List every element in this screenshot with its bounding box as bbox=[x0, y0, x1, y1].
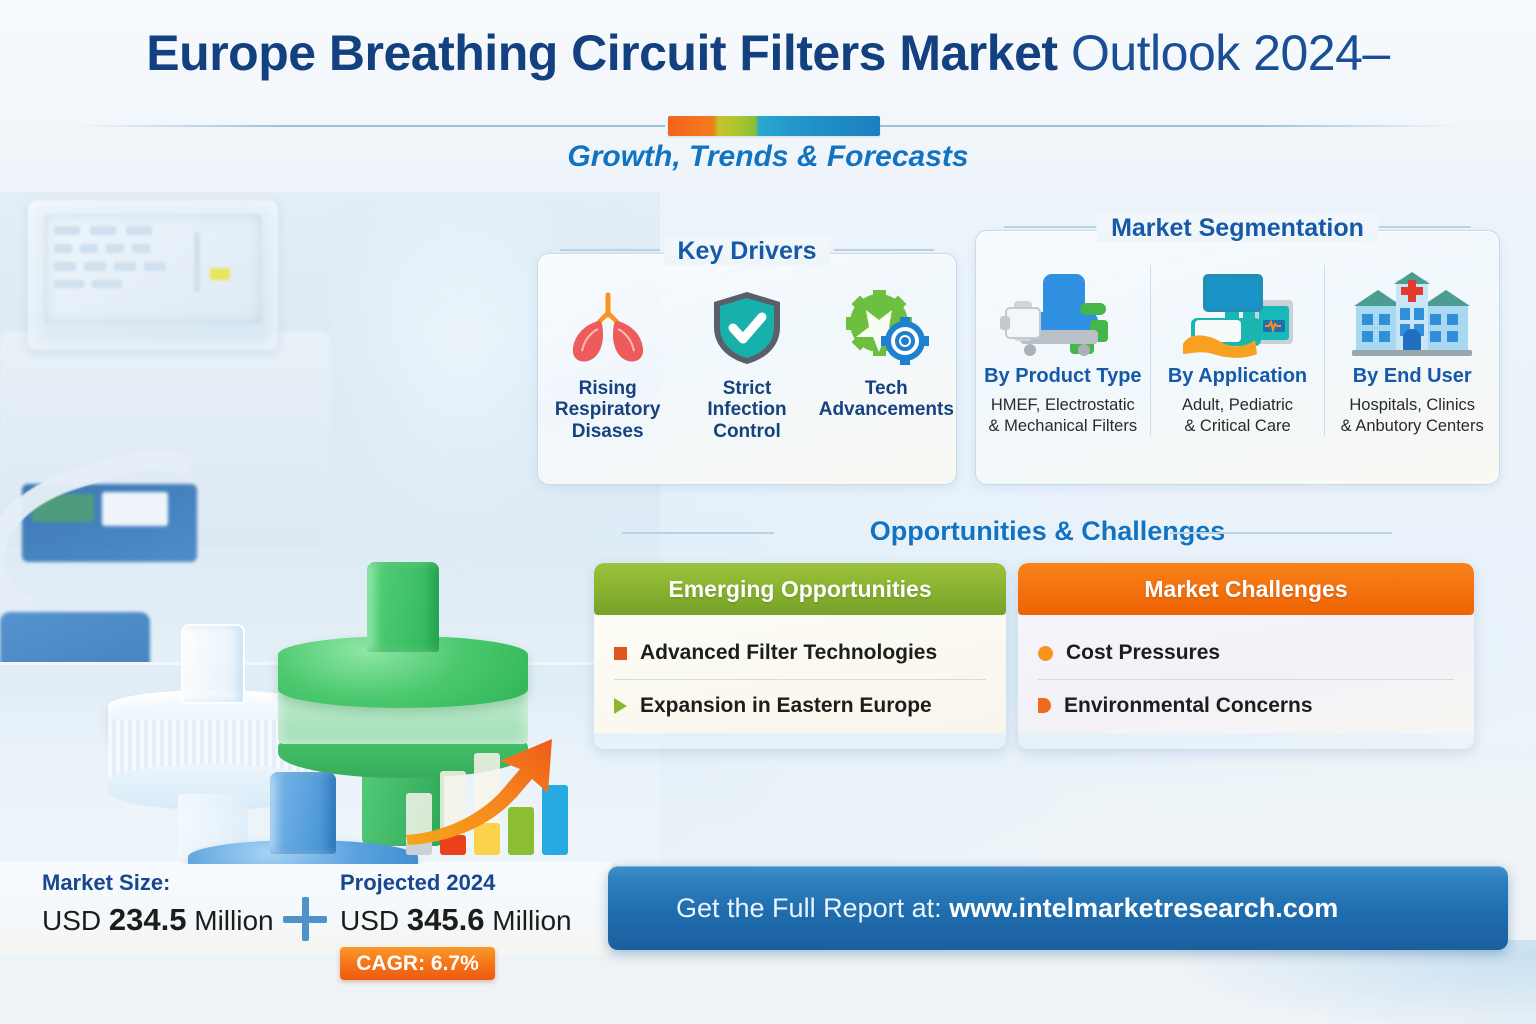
cta-text: Get the Full Report at: www.intelmarketr… bbox=[608, 893, 1338, 924]
projected-value: USD 345.6 Million bbox=[340, 902, 572, 938]
header: Europe Breathing Circuit Filters Market … bbox=[0, 0, 1536, 192]
market-segmentation-panel: Market Segmentation bbox=[975, 230, 1500, 485]
segment-desc-product-type: HMEF, Electrostatic & Mechanical Filters bbox=[980, 395, 1146, 436]
list-item[interactable]: Environmental Concerns bbox=[1038, 679, 1454, 731]
key-drivers-panel: Key Drivers Rising Respiratory bbox=[537, 253, 957, 485]
key-drivers-columns: Rising Respiratory Disases Strict Infect… bbox=[538, 284, 956, 442]
patient-monitor-icon bbox=[1155, 265, 1321, 363]
blue-filter-port bbox=[270, 772, 336, 854]
list-item-label: Cost Pressures bbox=[1066, 641, 1220, 665]
segment-heading-end-user: By End User bbox=[1329, 365, 1495, 388]
square-bullet-icon bbox=[614, 647, 627, 660]
driver-item-tech[interactable]: Tech Advancements bbox=[817, 284, 956, 442]
infographic-canvas: Europe Breathing Circuit Filters Market … bbox=[0, 0, 1536, 1024]
monitor-screen bbox=[44, 214, 262, 324]
growth-chart bbox=[400, 735, 570, 855]
segment-desc-application: Adult, Pediatric & Critical Care bbox=[1155, 395, 1321, 436]
cta-url: www.intelmarketresearch.com bbox=[949, 893, 1338, 923]
emerging-opportunities-card: Emerging Opportunities Advanced Filter T… bbox=[594, 563, 1006, 749]
emerging-opportunities-body: Advanced Filter Technologies Expansion i… bbox=[594, 615, 1006, 733]
divider-accent-bar bbox=[668, 116, 880, 136]
ventilator-monitor bbox=[28, 200, 278, 350]
gears-icon bbox=[817, 284, 956, 372]
divider-line-left bbox=[75, 125, 665, 127]
cta-banner[interactable]: Get the Full Report at: www.intelmarketr… bbox=[608, 866, 1508, 950]
segment-heading-application: By Application bbox=[1155, 365, 1321, 388]
driver-label-infection-control: Strict Infection Control bbox=[677, 378, 816, 442]
list-item[interactable]: Expansion in Eastern Europe bbox=[614, 679, 986, 731]
driver-item-respiratory[interactable]: Rising Respiratory Disases bbox=[538, 284, 677, 442]
plus-icon bbox=[283, 897, 327, 941]
oc-title-line-right bbox=[1170, 532, 1392, 534]
hospital-icon bbox=[1329, 265, 1495, 363]
market-challenges-body: Cost Pressures Environmental Concerns bbox=[1018, 615, 1474, 733]
triangle-bullet-icon bbox=[614, 698, 627, 714]
divider-line-right bbox=[880, 125, 1460, 127]
driver-item-infection-control[interactable]: Strict Infection Control bbox=[677, 284, 816, 442]
green-filter-port bbox=[367, 562, 439, 652]
segment-heading-product-type: By Product Type bbox=[980, 365, 1146, 388]
page-title-light: Outlook 2024– bbox=[1058, 25, 1390, 81]
clear-filter-port bbox=[181, 624, 245, 704]
list-item[interactable]: Cost Pressures bbox=[1038, 627, 1454, 679]
shield-check-icon bbox=[677, 284, 816, 372]
projected-label: Projected 2024 bbox=[340, 870, 495, 896]
list-item[interactable]: Advanced Filter Technologies bbox=[614, 627, 986, 679]
market-segmentation-title: Market Segmentation bbox=[976, 214, 1499, 243]
driver-label-respiratory: Rising Respiratory Disases bbox=[538, 378, 677, 442]
circle-bullet-icon bbox=[1038, 646, 1053, 661]
segment-desc-end-user: Hospitals, Clinics & Anbutory Centers bbox=[1329, 395, 1495, 436]
header-divider bbox=[0, 116, 1536, 136]
segment-item-end-user[interactable]: By End User Hospitals, Clinics & Anbutor… bbox=[1324, 265, 1499, 436]
segmentation-columns: By Product Type HMEF, Electrostatic & Me… bbox=[976, 265, 1499, 436]
bottom-blue-glow bbox=[1116, 940, 1536, 1024]
list-item-label: Advanced Filter Technologies bbox=[640, 641, 937, 665]
lungs-icon bbox=[538, 284, 677, 372]
key-drivers-title: Key Drivers bbox=[538, 237, 956, 266]
ventilator-chair-icon bbox=[980, 265, 1146, 363]
list-item-label: Expansion in Eastern Europe bbox=[640, 694, 932, 718]
list-item-label: Environmental Concerns bbox=[1064, 694, 1313, 718]
page-title: Europe Breathing Circuit Filters Market … bbox=[0, 24, 1536, 82]
market-challenges-card: Market Challenges Cost Pressures Environ… bbox=[1018, 563, 1474, 749]
driver-label-tech: Tech Advancements bbox=[817, 378, 956, 421]
blue-filter-device bbox=[188, 772, 418, 864]
market-size-label: Market Size: bbox=[42, 870, 170, 896]
market-challenges-heading: Market Challenges bbox=[1018, 563, 1474, 615]
cagr-badge: CAGR: 6.7% bbox=[340, 947, 495, 980]
page-title-bold: Europe Breathing Circuit Filters Market bbox=[146, 25, 1057, 81]
halfcircle-bullet-icon bbox=[1038, 698, 1051, 713]
emerging-opportunities-heading: Emerging Opportunities bbox=[594, 563, 1006, 615]
market-size-value: USD 234.5 Million bbox=[42, 902, 274, 938]
segment-item-product-type[interactable]: By Product Type HMEF, Electrostatic & Me… bbox=[976, 265, 1150, 436]
page-subtitle: Growth, Trends & Forecasts bbox=[0, 140, 1536, 174]
segment-item-application[interactable]: By Application Adult, Pediatric & Critic… bbox=[1150, 265, 1325, 436]
growth-arrow-icon bbox=[400, 735, 570, 855]
